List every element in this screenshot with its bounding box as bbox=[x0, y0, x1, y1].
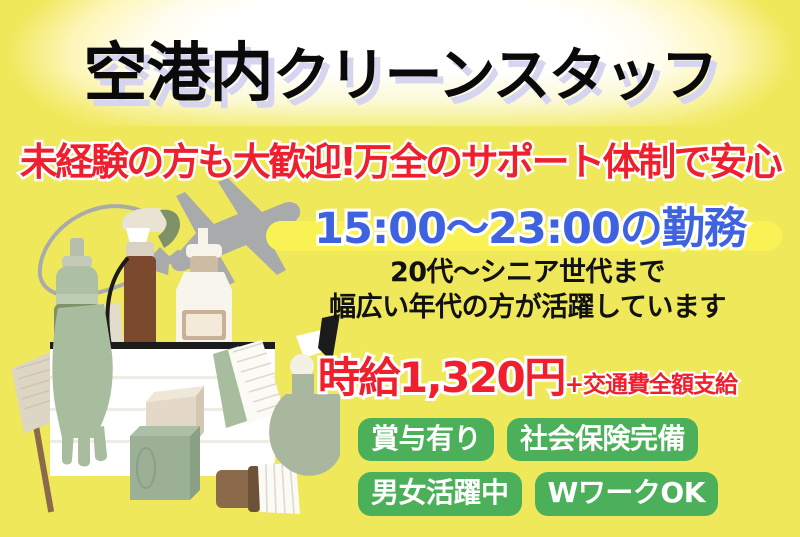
title-kana: クリーンスタッフ bbox=[273, 41, 717, 109]
badge-double-work-ok[interactable]: WワークOK bbox=[535, 472, 718, 515]
age-note-line-2: 幅広い年代の方が活躍しています bbox=[255, 291, 800, 326]
badge-social-insurance[interactable]: 社会保険完備 bbox=[507, 418, 698, 461]
age-note-line-1: 20代〜シニア世代まで bbox=[255, 256, 800, 291]
title-kanji: 空港内 bbox=[84, 37, 273, 111]
benefit-badges: 賞与有り 社会保険完備 男女活躍中 WワークOK bbox=[358, 418, 800, 516]
age-note: 20代〜シニア世代まで 幅広い年代の方が活躍しています bbox=[255, 256, 800, 325]
green-box bbox=[130, 426, 200, 500]
badge-bonus[interactable]: 賞与有り bbox=[358, 418, 494, 461]
transport-allowance: +交通費全額支給 bbox=[565, 372, 737, 398]
subtitle-text: 未経験の方も大歓迎!万全のサポート体制で安心 bbox=[0, 131, 800, 186]
wage-line: 時給1,320円+交通費全額支給 bbox=[255, 344, 800, 405]
work-hours-text: 15:00〜23:00の勤務 bbox=[260, 194, 800, 256]
hourly-wage: 時給1,320円 bbox=[318, 353, 565, 402]
page-title: 空港内クリーンスタッフ bbox=[0, 22, 800, 114]
job-ad-banner: 空港内クリーンスタッフ 未経験の方も大歓迎!万全のサポート体制で安心 15:00… bbox=[0, 0, 800, 537]
badge-gender-friendly[interactable]: 男女活躍中 bbox=[358, 472, 522, 515]
